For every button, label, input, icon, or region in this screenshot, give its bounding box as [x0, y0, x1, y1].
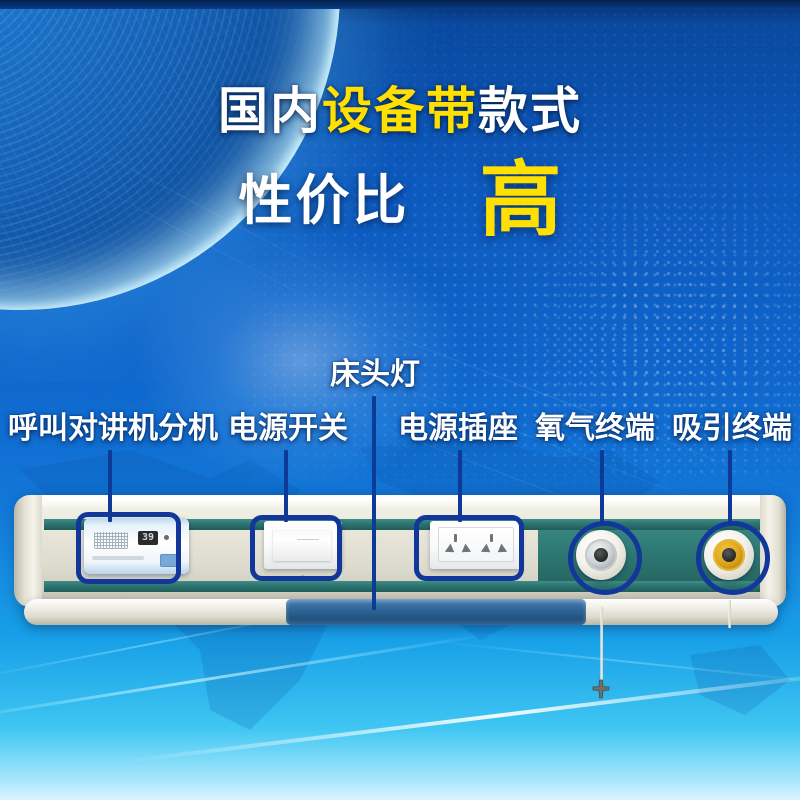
- headline-part-accent: 设备带: [322, 82, 478, 140]
- leader-line-lamp: [372, 396, 376, 610]
- streak-line-bright: [120, 667, 800, 764]
- headline-part-plain-1: 国内: [218, 82, 322, 140]
- leader-line-suction: [728, 450, 732, 522]
- cord-plug[interactable]: [590, 678, 612, 700]
- leader-line-socket: [458, 450, 462, 522]
- highlight-circle-suction: [696, 521, 770, 595]
- headline-line-2: 性价比 高: [0, 158, 800, 244]
- callout-label-switch: 电源开关: [228, 412, 348, 446]
- callout-label-oxygen: 氧气终端: [535, 412, 655, 446]
- cord-plug-icon: [590, 678, 612, 700]
- streak-line: [430, 640, 800, 686]
- highlight-box-switch: [250, 515, 342, 581]
- headline-part-plain-2: 款式: [478, 82, 582, 140]
- highlight-circle-oxygen: [568, 521, 642, 595]
- callout-label-suction: 吸引终端: [672, 412, 792, 446]
- callout-label-lamp: 床头灯: [330, 358, 420, 392]
- headline-block: 国内设备带款式 性价比 高: [0, 82, 800, 244]
- leader-line-switch: [284, 450, 288, 522]
- suction-cord: [728, 600, 731, 628]
- highlight-box-socket: [414, 515, 524, 581]
- callout-label-intercom: 呼叫对讲机分机: [8, 412, 218, 446]
- headline-emphasis-high: 高: [479, 158, 561, 244]
- panel-top-highlight: [22, 497, 780, 507]
- headline-line-1: 国内设备带款式: [0, 82, 800, 140]
- streak-line: [0, 632, 493, 723]
- leader-line-oxygen: [600, 450, 604, 522]
- call-cord[interactable]: [600, 607, 603, 685]
- bed-lamp-strip: [286, 599, 586, 625]
- panel-end-cap-left: [14, 495, 42, 607]
- headline-value-phrase: 性价比: [238, 171, 409, 231]
- top-dark-band: [0, 0, 800, 9]
- callout-label-socket: 电源插座: [398, 412, 518, 446]
- banner-canvas: 国内设备带款式 性价比 高 呼叫对讲机分机 电源开关 床头灯 电源插座 氧气终端…: [0, 0, 800, 800]
- highlight-box-intercom: [76, 512, 181, 584]
